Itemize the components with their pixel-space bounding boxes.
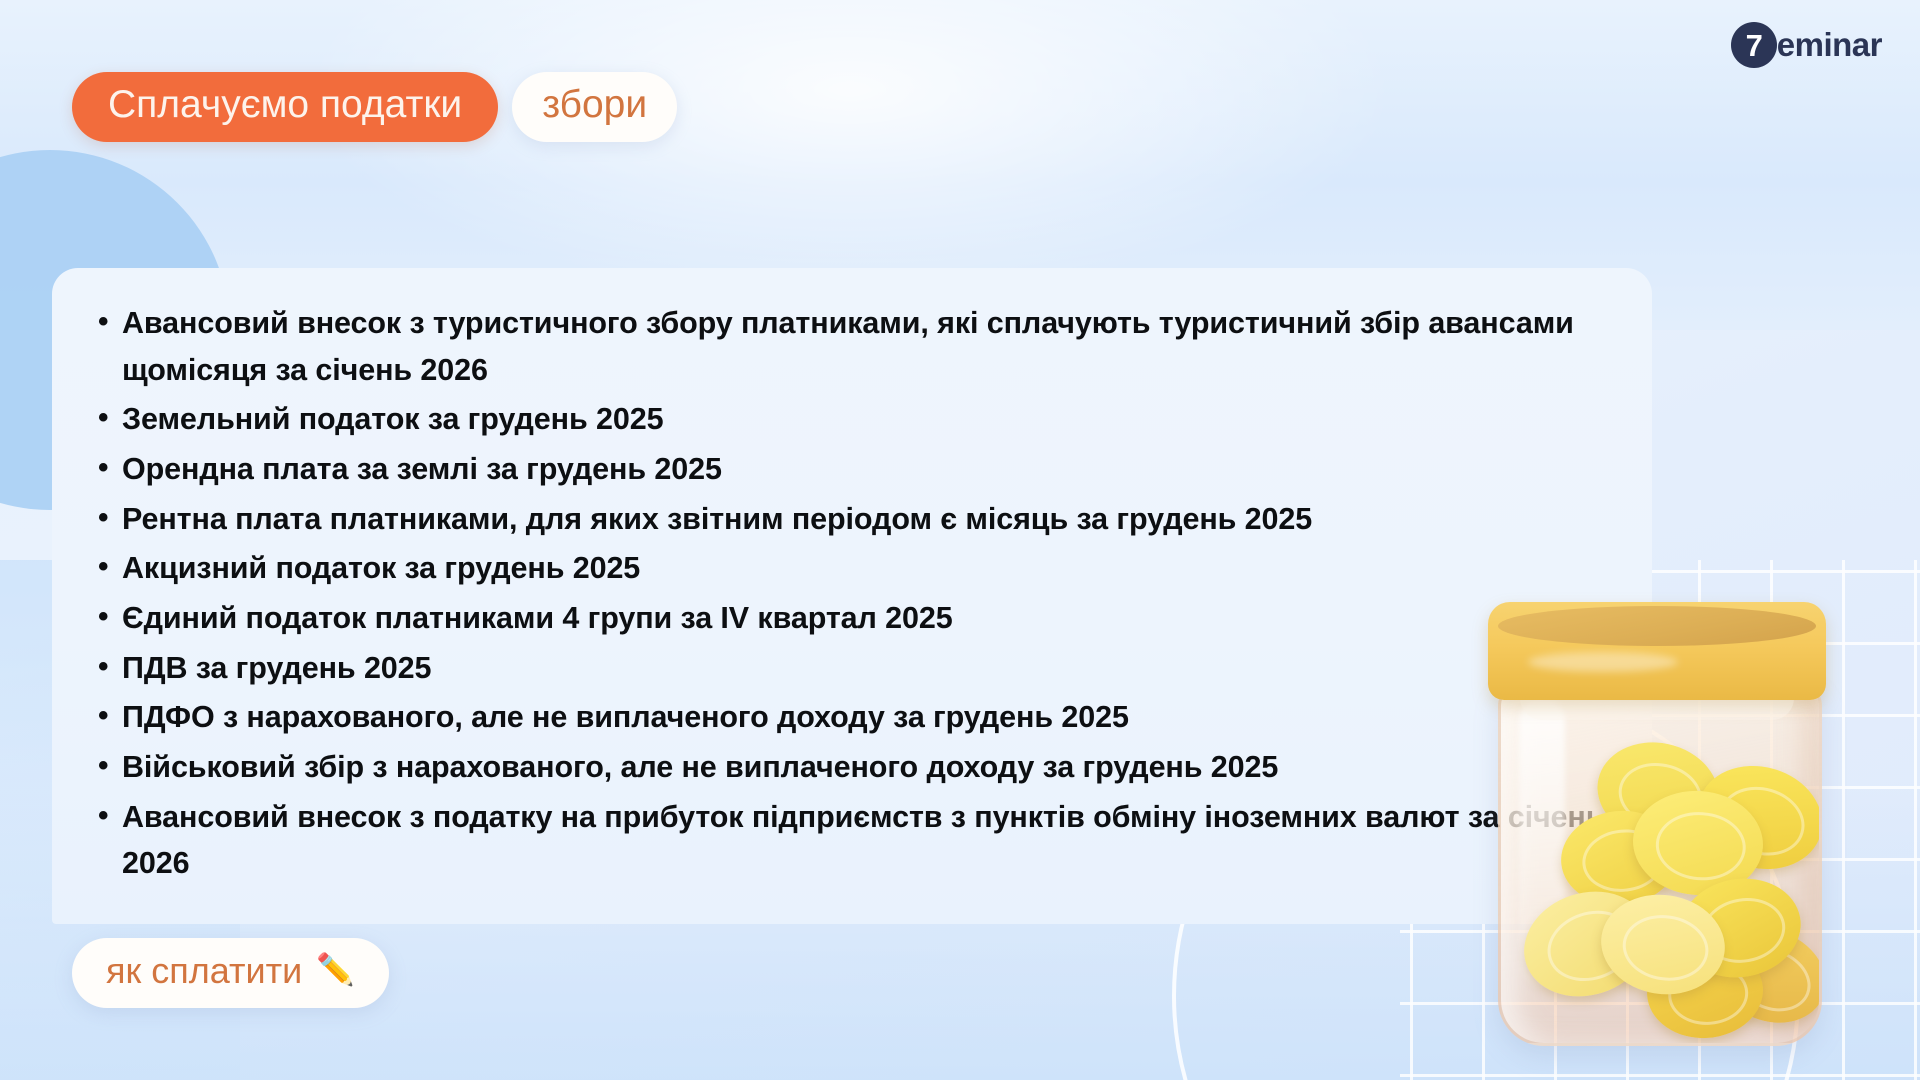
list-item: Військовий збір з нарахованого, але не в…: [98, 744, 1614, 791]
list-item: Рентна плата платниками, для яких звітни…: [98, 496, 1614, 543]
how-to-pay-button[interactable]: як сплатити ✏️: [72, 938, 389, 1008]
list-item: Акцизний податок за грудень 2025: [98, 545, 1614, 592]
brand-logo-text: eminar: [1777, 26, 1882, 64]
title-row: Сплачуємо податки збори: [72, 72, 677, 142]
seminar-logo-icon: 7: [1731, 22, 1777, 68]
jar-body: [1498, 680, 1822, 1046]
content-card: Авансовий внесок з туристичного збору пл…: [52, 268, 1652, 924]
pencil-icon: ✏️: [316, 954, 355, 985]
how-to-pay-label: як сплатити: [106, 950, 302, 992]
jar-lid-gloss: [1528, 652, 1678, 672]
coin-jar-illustration: [1442, 592, 1872, 1062]
brand-logo: 7 eminar: [1731, 22, 1882, 68]
title-pill-primary: Сплачуємо податки: [72, 72, 498, 142]
tax-obligations-list: Авансовий внесок з туристичного збору пл…: [98, 300, 1614, 887]
list-item: Авансовий внесок з туристичного збору пл…: [98, 300, 1614, 393]
list-item: Авансовий внесок з податку на прибуток п…: [98, 794, 1614, 887]
jar-lid: [1488, 602, 1826, 700]
list-item: Земельний податок за грудень 2025: [98, 396, 1614, 443]
title-pill-secondary: збори: [512, 72, 677, 142]
list-item: Єдиний податок платниками 4 групи за IV …: [98, 595, 1614, 642]
slide-root: 7 eminar Сплачуємо податки збори Авансов…: [0, 0, 1920, 1080]
list-item: ПДВ за грудень 2025: [98, 645, 1614, 692]
list-item: ПДФО з нарахованого, але не виплаченого …: [98, 694, 1614, 741]
background-top-sheen: [300, 0, 1400, 300]
jar-lid-top: [1498, 606, 1816, 646]
list-item: Орендна плата за землі за грудень 2025: [98, 446, 1614, 493]
